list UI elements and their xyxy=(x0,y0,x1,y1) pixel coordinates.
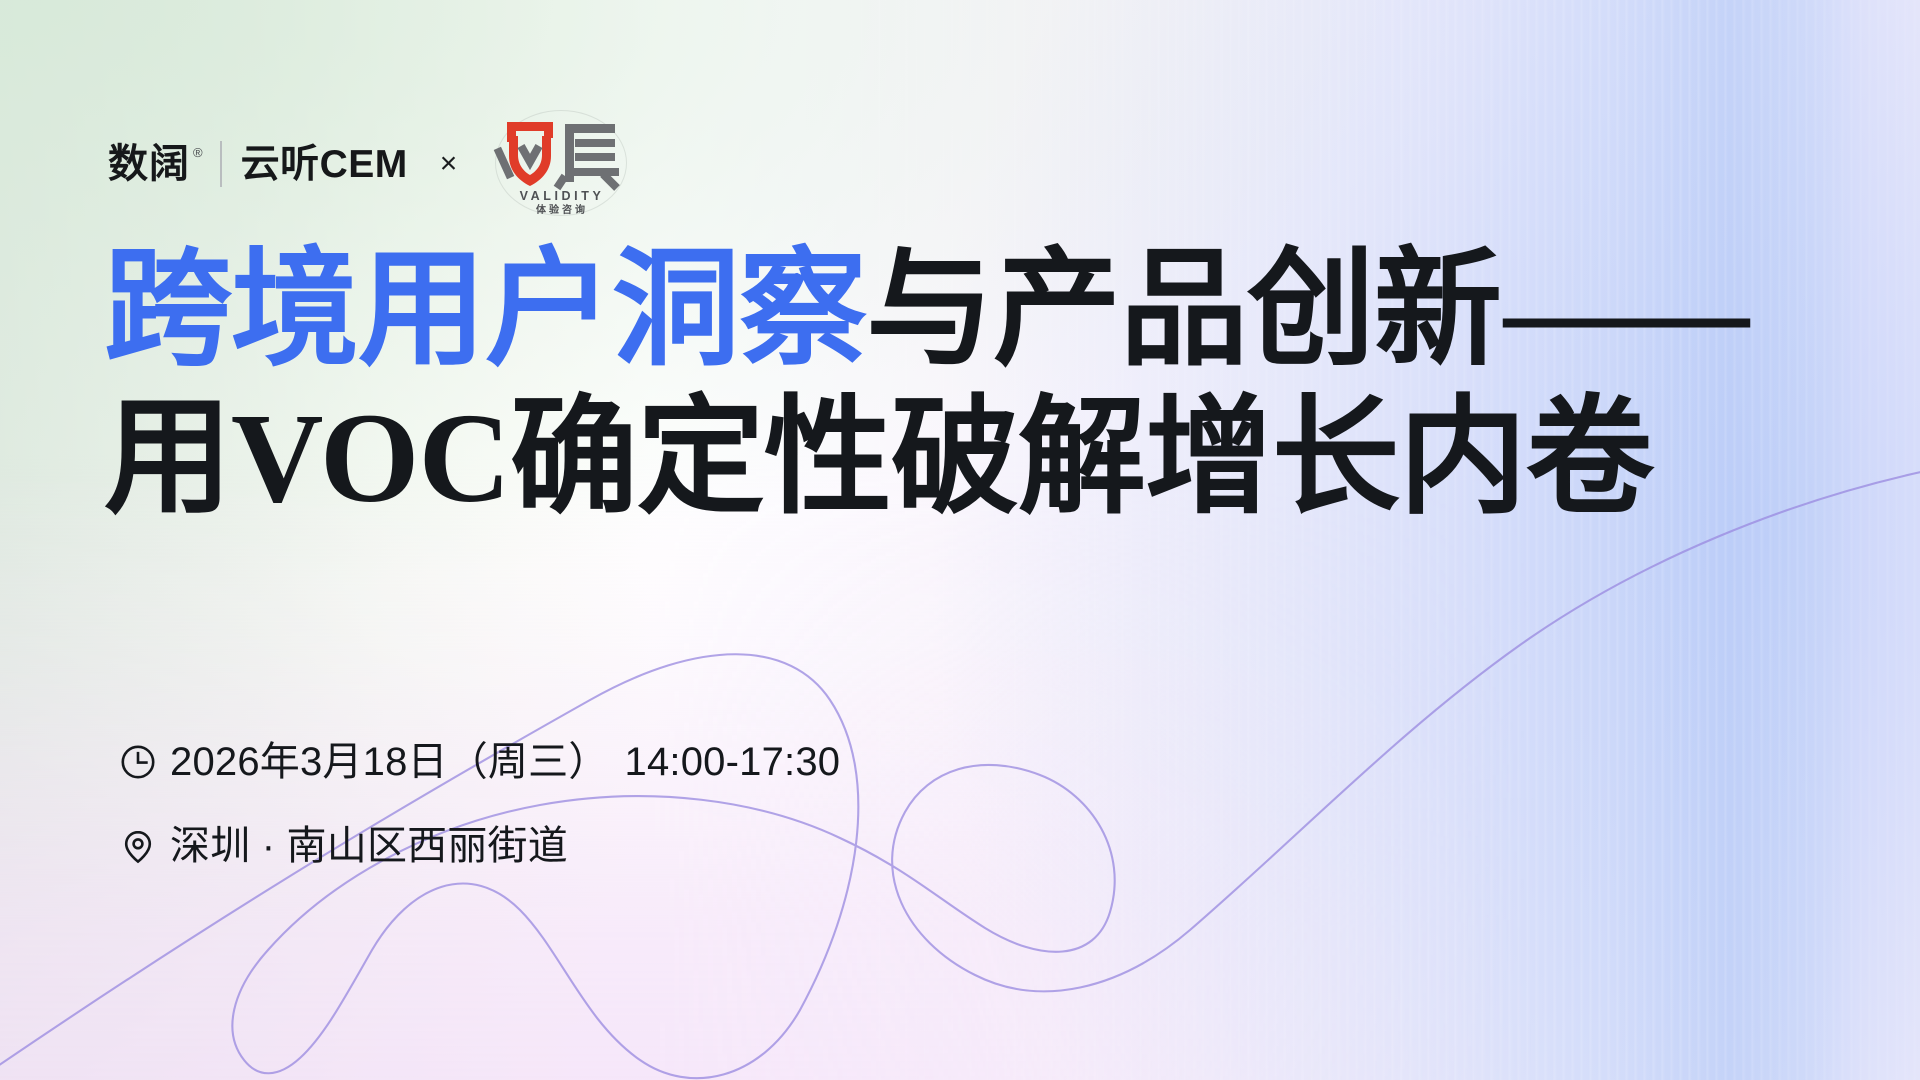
event-location-row: 深圳 · 南山区西丽街道 xyxy=(118,826,840,866)
event-datetime-row: 2026年3月18日（周三） 14:00-17:30 xyxy=(118,742,840,782)
event-time: 14:00-17:30 xyxy=(625,742,841,782)
location-pin-icon xyxy=(118,826,158,866)
logo-divider xyxy=(220,141,222,187)
poster-canvas: 数阔 ® 云听CEM × xyxy=(0,0,1920,1080)
clock-icon xyxy=(118,742,158,782)
logo-shukuo: 数阔 ® xyxy=(108,144,204,184)
event-location: 深圳 · 南山区西丽街道 xyxy=(170,826,568,866)
registered-trademark-icon: ® xyxy=(193,146,204,159)
event-date: 2026年3月18日（周三） xyxy=(170,742,609,782)
title-line-1: 跨境用户洞察与产品创新—— xyxy=(104,236,1744,384)
title-em-dash: —— xyxy=(1504,239,1740,381)
poster-title: 跨境用户洞察与产品创新—— 用VOC确定性破解增长内卷 xyxy=(104,236,1744,533)
logo-yunting-cem: 云听CEM xyxy=(241,145,408,184)
svg-text:VALIDITY: VALIDITY xyxy=(520,189,605,203)
cross-x-icon: × xyxy=(440,149,458,179)
logo-validity: VALIDITY 体验咨询 xyxy=(487,112,637,216)
svg-text:体验咨询: 体验咨询 xyxy=(536,203,588,216)
logo-validity-mark: VALIDITY 体验咨询 xyxy=(487,112,637,216)
title-highlight-phrase: 跨境用户洞察 xyxy=(104,239,866,381)
logo-lockup: 数阔 ® 云听CEM × xyxy=(108,122,637,206)
logo-shukuo-text: 数阔 xyxy=(108,144,190,184)
event-details: 2026年3月18日（周三） 14:00-17:30 深圳 · 南山区西丽街道 xyxy=(118,742,840,866)
title-line-1-rest: 与产品创新 xyxy=(866,239,1501,381)
title-line-2: 用VOC确定性破解增长内卷 xyxy=(104,384,1744,532)
